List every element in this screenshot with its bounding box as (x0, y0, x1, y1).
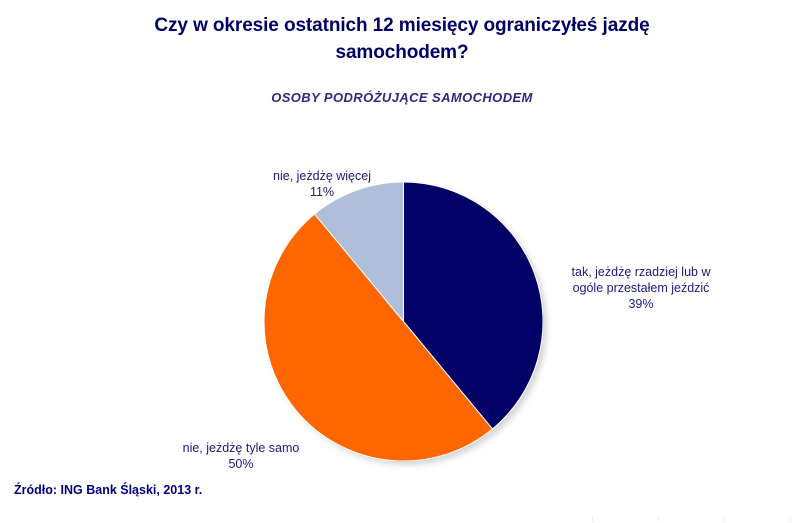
pie-chart (264, 182, 543, 461)
pie-svg (264, 182, 543, 461)
bottom-tick-marks (0, 513, 804, 523)
source-note: Źródło: ING Bank Śląski, 2013 r. (14, 483, 202, 497)
chart-title: Czy w okresie ostatnich 12 miesięcy ogra… (102, 12, 702, 66)
slice-label-text: nie, jeżdżę więcej (273, 169, 371, 183)
chart-subtitle: OSOBY PODRÓŻUJĄCE SAMOCHODEM (202, 90, 602, 105)
slice-label-tak-jezdze-rzadziej: tak, jeżdżę rzadziej lub w ogóle przesta… (548, 248, 734, 328)
slice-label-text: tak, jeżdżę rzadziej lub w ogóle przesta… (572, 265, 711, 295)
slice-label-nie-jezdze-wiecej: nie, jeżdżę więcej 11% (232, 152, 412, 216)
slice-label-value: 50% (126, 456, 356, 472)
slice-label-value: 39% (548, 296, 734, 312)
slice-label-nie-jezdze-tyle-samo: nie, jeżdżę tyle samo 50% (126, 424, 356, 488)
slice-label-value: 11% (232, 184, 412, 200)
slice-label-text: nie, jeżdżę tyle samo (183, 441, 300, 455)
